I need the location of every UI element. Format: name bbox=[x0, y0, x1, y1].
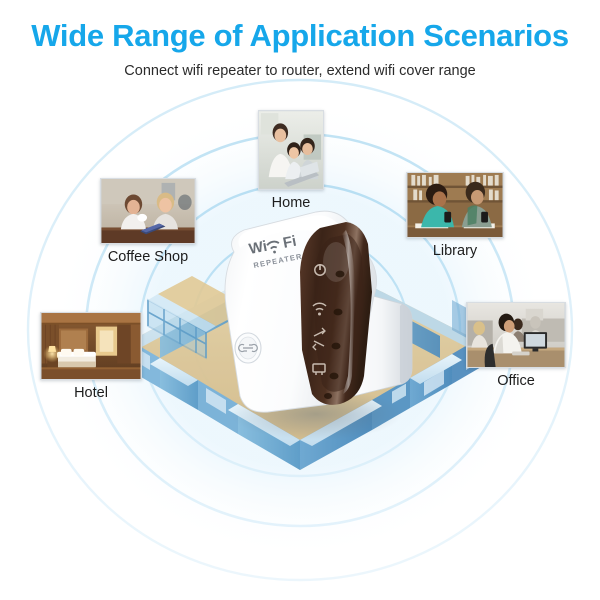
svg-text:Wi: Wi bbox=[248, 238, 269, 258]
scenario-label-home: Home bbox=[258, 195, 324, 211]
coffee-shop-photo bbox=[100, 178, 196, 244]
scenario-card-library[interactable]: Library bbox=[406, 172, 504, 259]
office-photo bbox=[466, 302, 566, 368]
scenario-label-office: Office bbox=[466, 373, 566, 389]
library-photo bbox=[406, 172, 504, 238]
page-title: Wide Range of Application Scenarios bbox=[0, 18, 600, 54]
scenario-label-library: Library bbox=[406, 243, 504, 259]
home-photo bbox=[258, 110, 324, 190]
scenario-label-coffee-shop: Coffee Shop bbox=[100, 249, 196, 265]
scenario-card-office[interactable]: Office bbox=[466, 302, 566, 389]
wifi-repeater-device[interactable]: Wi Fi REPEATER bbox=[196, 200, 436, 450]
scenario-card-home[interactable]: Home bbox=[258, 110, 324, 211]
page-subtitle: Connect wifi repeater to router, extend … bbox=[0, 63, 600, 79]
scenario-label-hotel: Hotel bbox=[40, 385, 142, 401]
infographic-stage: Wi Fi REPEATER bbox=[0, 0, 600, 600]
scenario-card-coffee-shop[interactable]: Coffee Shop bbox=[100, 178, 196, 265]
hotel-photo bbox=[40, 312, 142, 380]
scenario-card-hotel[interactable]: Hotel bbox=[40, 312, 142, 401]
wps-button[interactable] bbox=[235, 333, 261, 363]
